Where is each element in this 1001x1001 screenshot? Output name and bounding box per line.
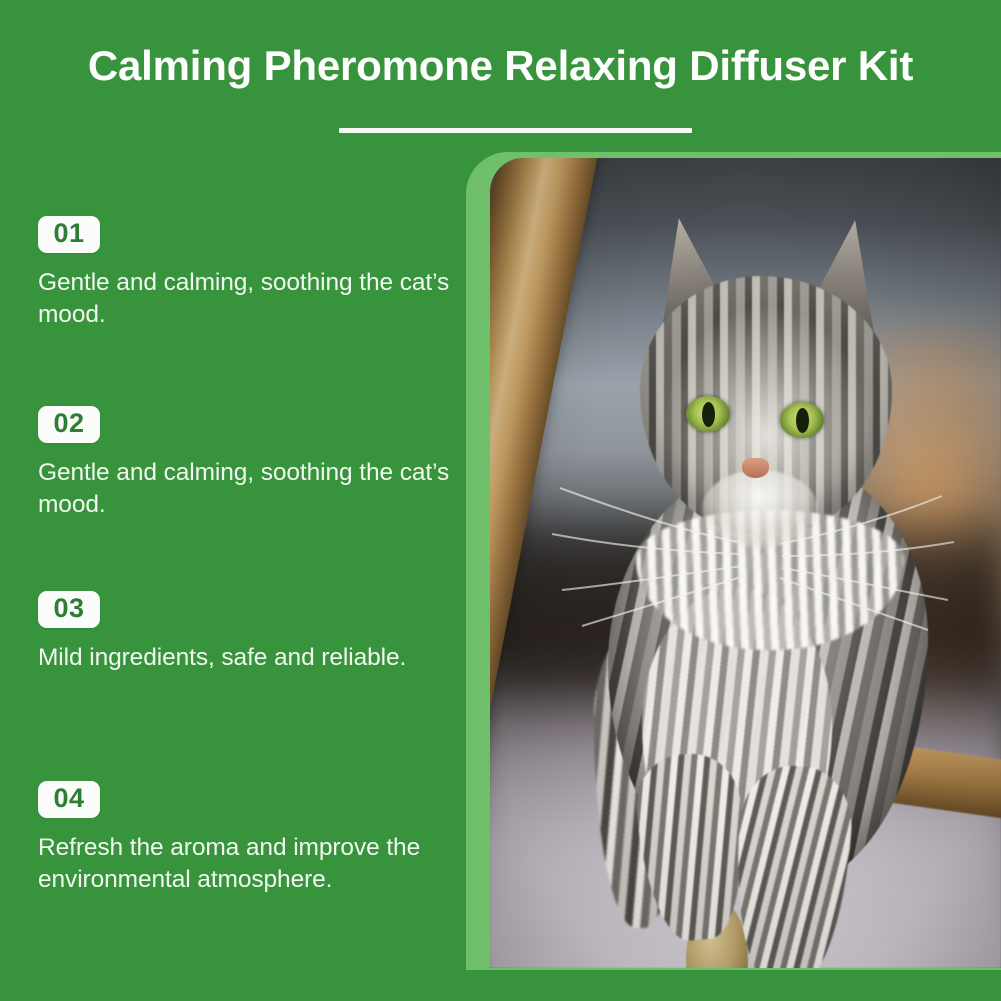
cat-pupil-right [796, 408, 809, 433]
feature-item-02: 02 Gentle and calming, soothing the cat’… [38, 406, 458, 522]
product-poster: Calming Pheromone Relaxing Diffuser Kit … [0, 0, 1001, 1001]
feature-badge-02: 02 [38, 406, 100, 443]
title-divider [339, 128, 692, 133]
feature-badge-04: 04 [38, 781, 100, 818]
page-title: Calming Pheromone Relaxing Diffuser Kit [0, 43, 1001, 88]
feature-item-01: 01 Gentle and calming, soothing the cat’… [38, 216, 458, 332]
feature-text-01: Gentle and calming, soothing the cat’s m… [38, 267, 456, 332]
cat-pupil-left [702, 402, 715, 427]
feature-item-03: 03 Mild ingredients, safe and reliable. [38, 591, 458, 674]
feature-badge-01: 01 [38, 216, 100, 253]
poster-header: Calming Pheromone Relaxing Diffuser Kit [0, 0, 1001, 150]
cat-eye-left [686, 396, 730, 432]
feature-item-04: 04 Refresh the aroma and improve the env… [38, 781, 458, 897]
feature-text-04: Refresh the aroma and improve the enviro… [38, 832, 456, 897]
feature-badge-03: 03 [38, 591, 100, 628]
feature-text-03: Mild ingredients, safe and reliable. [38, 642, 456, 674]
product-photo-cat [490, 158, 1001, 968]
cat-eye-right [780, 402, 824, 438]
feature-text-02: Gentle and calming, soothing the cat’s m… [38, 457, 456, 522]
cat-whiskers-icon [530, 458, 960, 638]
feature-list: 01 Gentle and calming, soothing the cat’… [0, 150, 470, 1001]
photo-scene [490, 158, 1001, 968]
